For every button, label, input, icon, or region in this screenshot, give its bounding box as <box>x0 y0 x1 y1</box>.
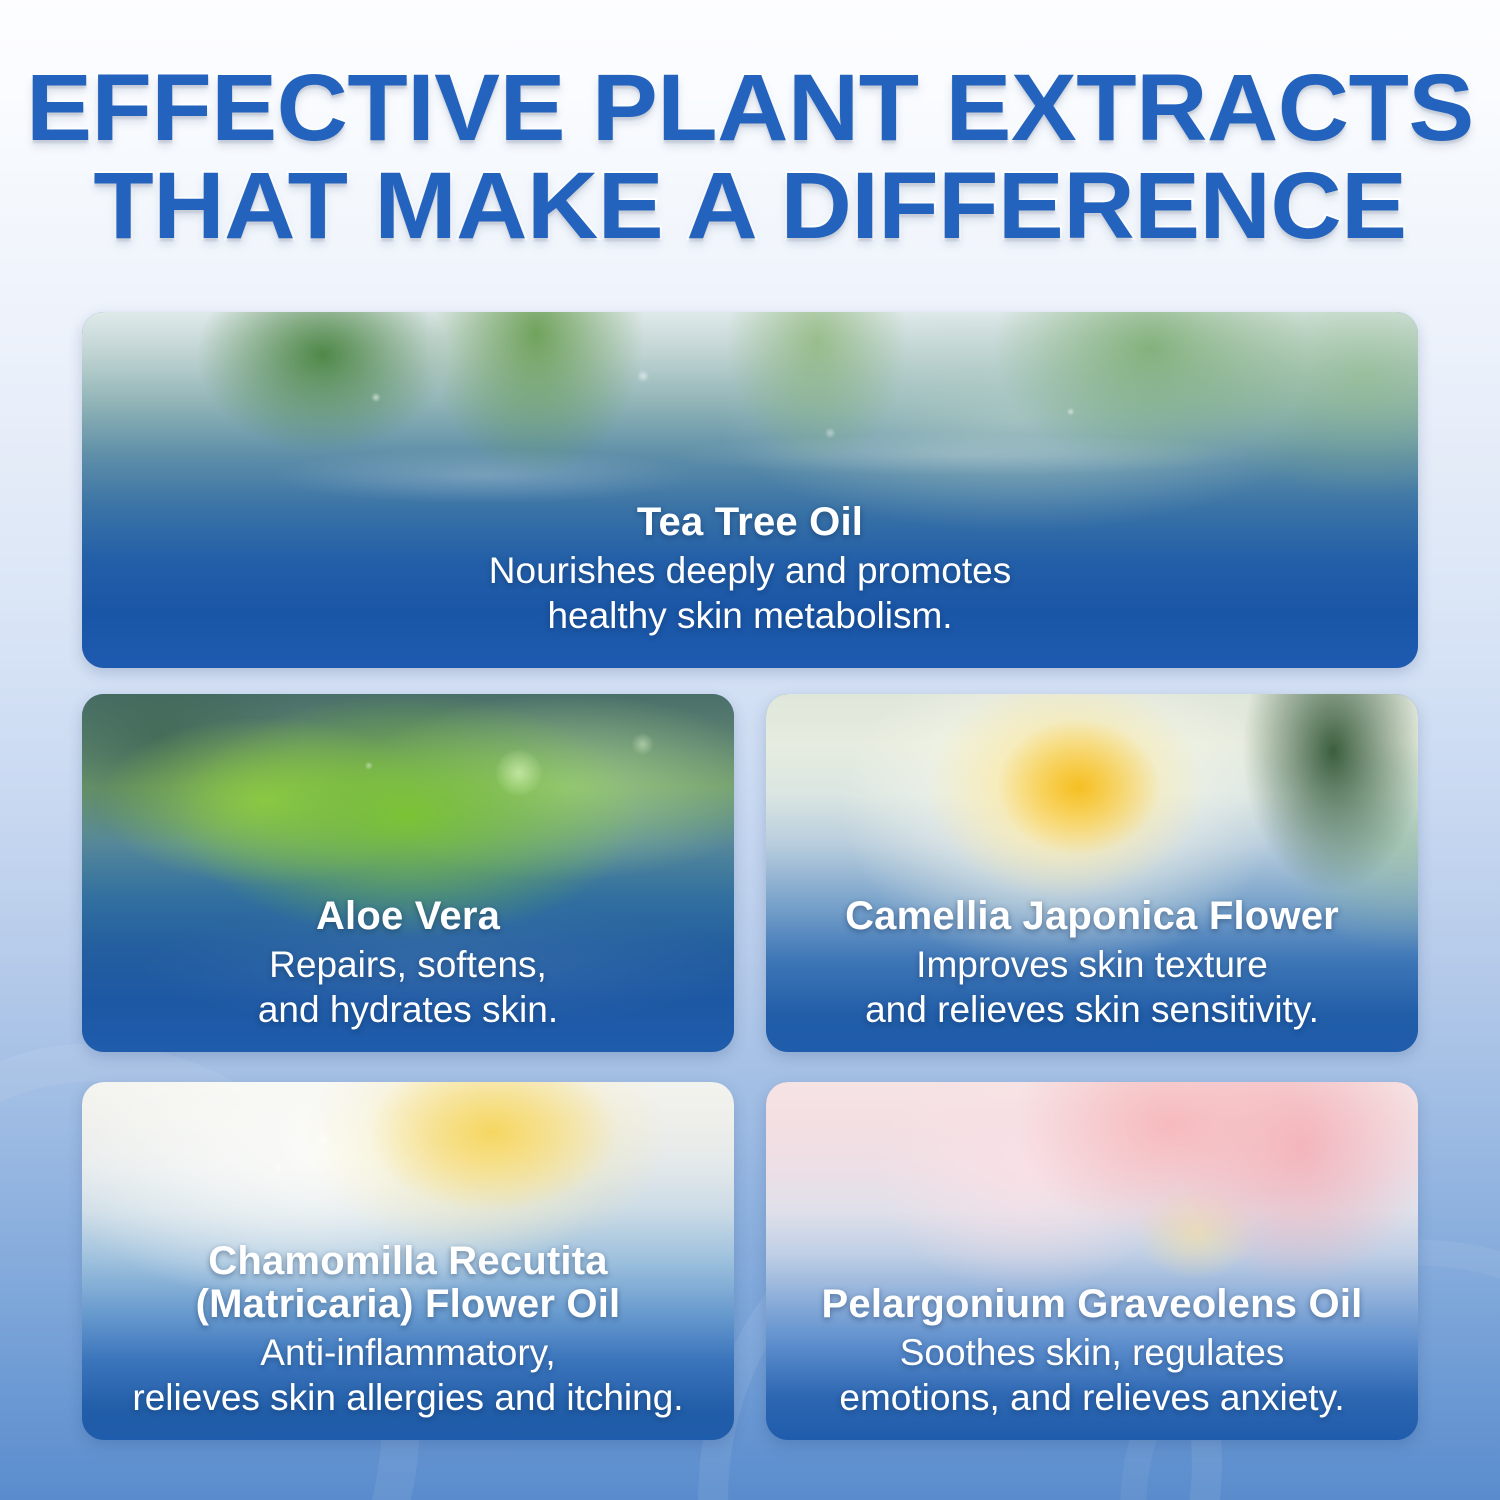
ingredient-description-line-2: emotions, and relieves anxiety. <box>784 1376 1400 1420</box>
ingredient-card-text: Camellia Japonica Flower Improves skin t… <box>766 895 1418 1052</box>
ingredient-description-line-2: and hydrates skin. <box>100 988 716 1032</box>
ingredient-title: Chamomilla Recutita (Matricaria) Flower … <box>100 1240 716 1325</box>
ingredient-card-row-2: Aloe Vera Repairs, softens, and hydrates… <box>82 694 1418 1052</box>
ingredient-description-line-1: Soothes skin, regulates <box>784 1331 1400 1375</box>
ingredient-card-text: Chamomilla Recutita (Matricaria) Flower … <box>82 1240 734 1440</box>
ingredient-description-line-1: Improves skin texture <box>784 943 1400 987</box>
ingredient-title: Pelargonium Graveolens Oil <box>784 1283 1400 1325</box>
ingredient-description-line-2: healthy skin metabolism. <box>100 594 1400 638</box>
ingredient-card-camellia-japonica-flower: Camellia Japonica Flower Improves skin t… <box>766 694 1418 1052</box>
ingredient-card-text: Aloe Vera Repairs, softens, and hydrates… <box>82 895 734 1052</box>
ingredient-card-text: Pelargonium Graveolens Oil Soothes skin,… <box>766 1283 1418 1440</box>
ingredient-description: Soothes skin, regulates emotions, and re… <box>784 1331 1400 1420</box>
ingredient-description-line-2: relieves skin allergies and itching. <box>100 1376 716 1420</box>
ingredient-description: Improves skin texture and relieves skin … <box>784 943 1400 1032</box>
ingredient-description: Nourishes deeply and promotes healthy sk… <box>100 549 1400 638</box>
ingredient-card-row-3: Chamomilla Recutita (Matricaria) Flower … <box>82 1082 1418 1440</box>
ingredient-card-tea-tree-oil: Tea Tree Oil Nourishes deeply and promot… <box>82 312 1418 668</box>
ingredient-benefits-poster: EFFECTIVE PLANT EXTRACTS THAT MAKE A DIF… <box>0 0 1500 1500</box>
ingredient-description-line-1: Anti-inflammatory, <box>100 1331 716 1375</box>
page-title-line-1: EFFECTIVE PLANT EXTRACTS <box>0 62 1500 154</box>
page-title: EFFECTIVE PLANT EXTRACTS THAT MAKE A DIF… <box>0 62 1500 252</box>
ingredient-card-pelargonium-graveolens-oil: Pelargonium Graveolens Oil Soothes skin,… <box>766 1082 1418 1440</box>
ingredient-card-chamomilla-recutita-flower-oil: Chamomilla Recutita (Matricaria) Flower … <box>82 1082 734 1440</box>
ingredient-title: Aloe Vera <box>100 895 716 937</box>
ingredient-card-aloe-vera: Aloe Vera Repairs, softens, and hydrates… <box>82 694 734 1052</box>
ingredient-title-line-2: (Matricaria) Flower Oil <box>100 1283 716 1325</box>
ingredient-title-line-1: Chamomilla Recutita <box>100 1240 716 1282</box>
page-title-line-2: THAT MAKE A DIFFERENCE <box>0 160 1500 252</box>
ingredient-card-text: Tea Tree Oil Nourishes deeply and promot… <box>82 501 1418 668</box>
ingredient-description: Repairs, softens, and hydrates skin. <box>100 943 716 1032</box>
ingredient-description-line-2: and relieves skin sensitivity. <box>784 988 1400 1032</box>
ingredient-card-grid: Tea Tree Oil Nourishes deeply and promot… <box>82 312 1418 1470</box>
ingredient-description-line-1: Repairs, softens, <box>100 943 716 987</box>
ingredient-title: Tea Tree Oil <box>100 501 1400 543</box>
ingredient-description: Anti-inflammatory, relieves skin allergi… <box>100 1331 716 1420</box>
ingredient-description-line-1: Nourishes deeply and promotes <box>100 549 1400 593</box>
ingredient-title: Camellia Japonica Flower <box>784 895 1400 937</box>
